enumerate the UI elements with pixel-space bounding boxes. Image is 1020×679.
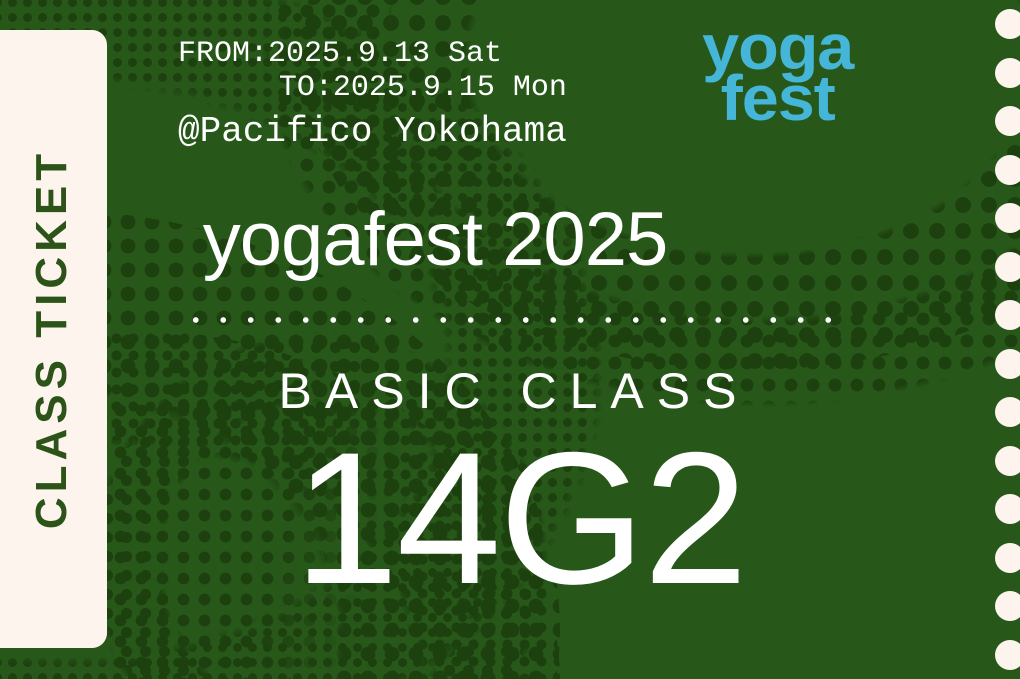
dotted-divider: [182, 316, 852, 324]
ticket-content: FROM:2025.9.13 Sat TO:2025.9.15 Mon @Pac…: [0, 0, 1020, 679]
logo-line-fest: fest: [702, 73, 853, 124]
stub-label: CLASS TICKET: [28, 149, 78, 529]
class-ticket: CLASS TICKET FROM:2025.9.13 Sat TO:2025.…: [0, 0, 1020, 679]
event-details-block: FROM:2025.9.13 Sat TO:2025.9.15 Mon @Pac…: [178, 38, 567, 153]
event-title: yogafest 2025: [0, 196, 1020, 283]
event-end-date: TO:2025.9.15 Mon: [178, 72, 567, 106]
seat-code: 14G2: [0, 424, 1020, 612]
yogafest-logo: yoga fest: [705, 22, 850, 124]
class-type-label: BASIC CLASS: [0, 362, 1020, 420]
event-venue: @Pacifico Yokohama: [178, 112, 567, 152]
event-start-date: FROM:2025.9.13 Sat: [178, 38, 567, 72]
ticket-stub-panel: CLASS TICKET: [0, 30, 107, 648]
